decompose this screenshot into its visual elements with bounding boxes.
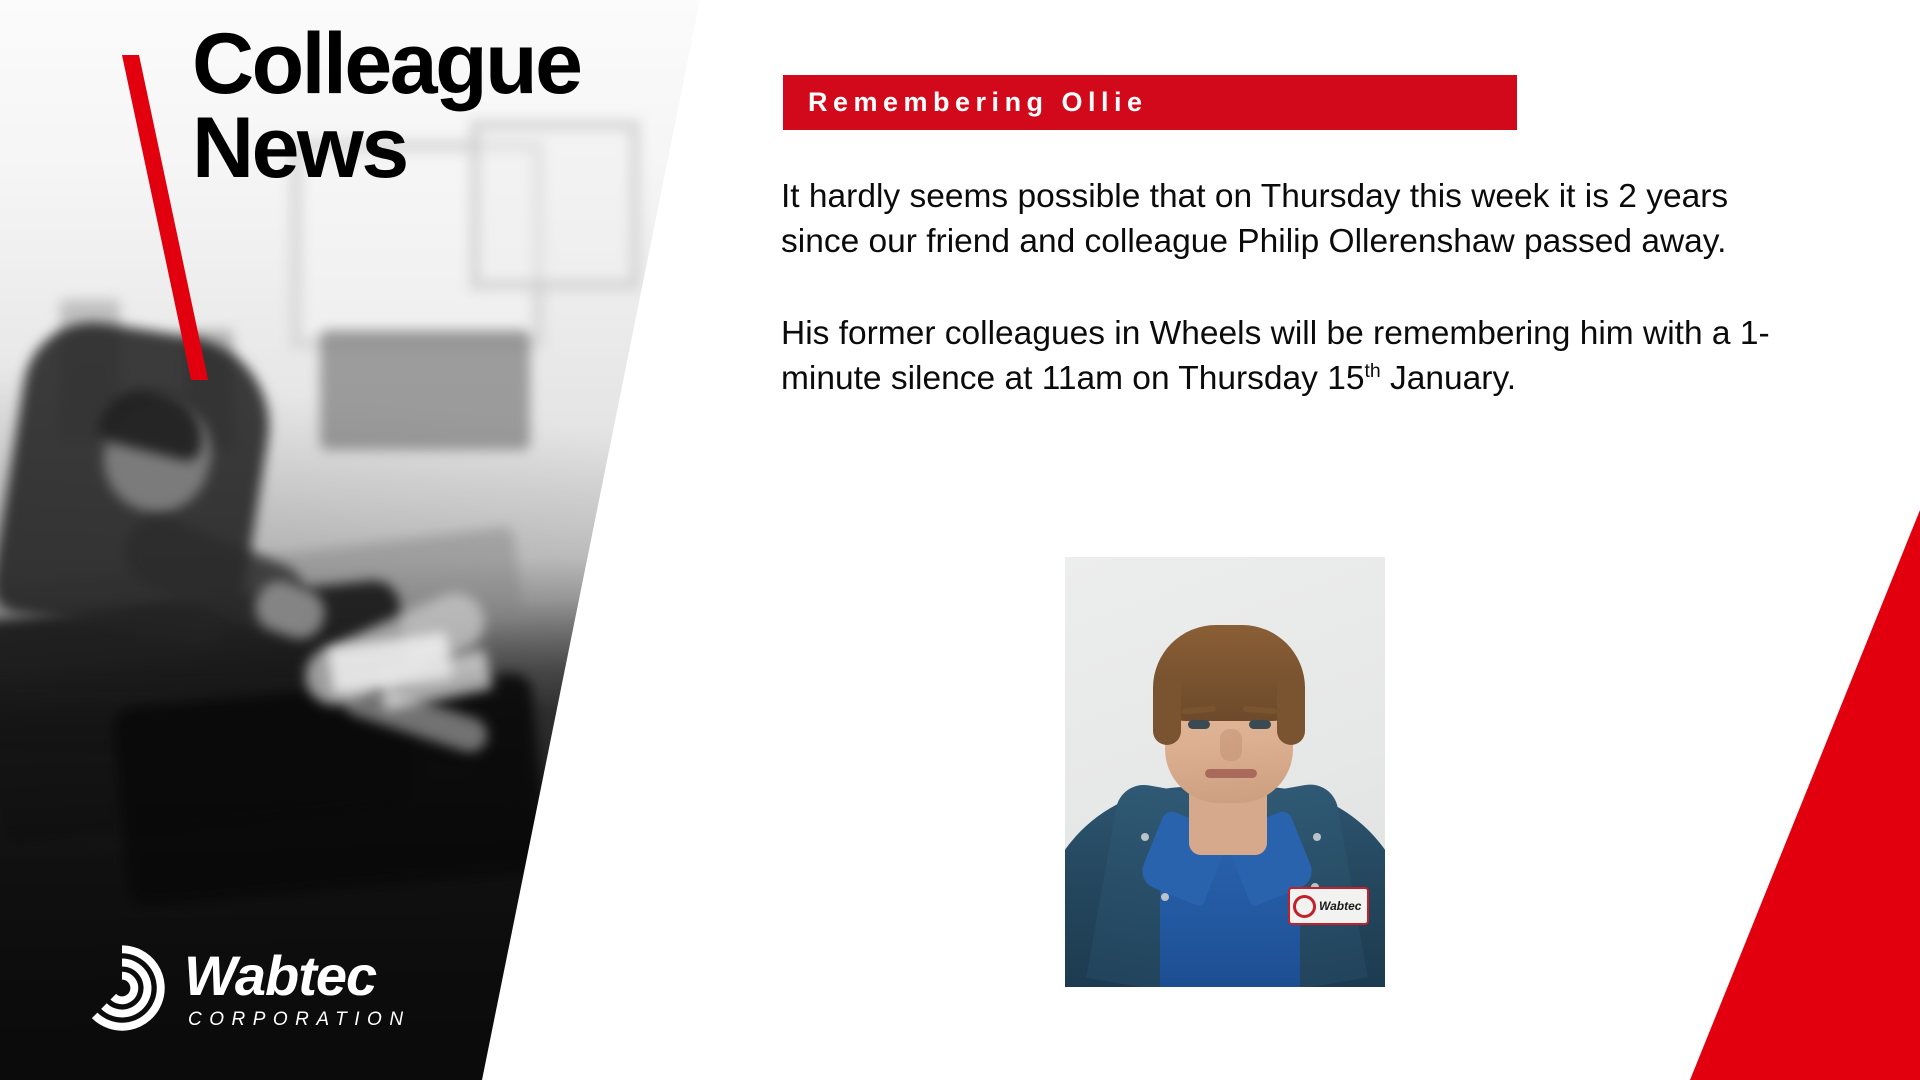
slide-canvas: Colleague News Wabtec CORPORATION Rememb… xyxy=(0,0,1920,1080)
body-paragraph-2-tail: January. xyxy=(1381,360,1516,397)
page-title: Colleague News xyxy=(192,22,662,191)
portrait-photo: Wabtec xyxy=(1065,557,1385,987)
paragraph-spacer xyxy=(781,264,1811,312)
portrait-mouth xyxy=(1205,769,1257,778)
portrait-eye-right xyxy=(1249,720,1271,729)
portrait-eye-left xyxy=(1188,720,1210,729)
wabtec-wordmark: Wabtec CORPORATION xyxy=(184,948,411,1029)
wabtec-name: Wabtec xyxy=(184,948,411,1004)
headline-text: Remembering Ollie xyxy=(808,87,1148,118)
wabtec-patch-label: Wabtec xyxy=(1319,899,1361,913)
body-paragraph-2-lead: His former colleagues in Wheels will be … xyxy=(781,315,1770,397)
page-title-line-1: Colleague xyxy=(192,22,662,106)
body-copy: It hardly seems possible that on Thursda… xyxy=(781,175,1811,401)
portrait-hair-left xyxy=(1153,675,1181,745)
photo-machinery xyxy=(320,330,530,450)
portrait-jacket-stud-3 xyxy=(1161,893,1169,901)
body-paragraph-1: It hardly seems possible that on Thursda… xyxy=(781,175,1811,264)
photo-engine-block-lower xyxy=(112,672,548,908)
wabtec-patch-spiral-icon xyxy=(1293,895,1316,918)
page-title-line-2: News xyxy=(192,106,662,190)
wabtec-spiral-icon xyxy=(78,944,166,1032)
headline-banner: Remembering Ollie xyxy=(783,75,1517,130)
red-wedge-accent xyxy=(1690,0,1920,1080)
portrait-wabtec-patch: Wabtec xyxy=(1288,887,1369,925)
ordinal-suffix: th xyxy=(1365,359,1381,381)
portrait-jacket-stud-2 xyxy=(1313,833,1321,841)
body-paragraph-2: His former colleagues in Wheels will be … xyxy=(781,312,1811,401)
portrait-jacket-stud-1 xyxy=(1141,833,1149,841)
portrait-hair-right xyxy=(1277,675,1305,745)
wabtec-subtitle: CORPORATION xyxy=(188,1010,411,1029)
portrait-nose xyxy=(1220,729,1242,761)
wabtec-logo: Wabtec CORPORATION xyxy=(78,944,411,1032)
